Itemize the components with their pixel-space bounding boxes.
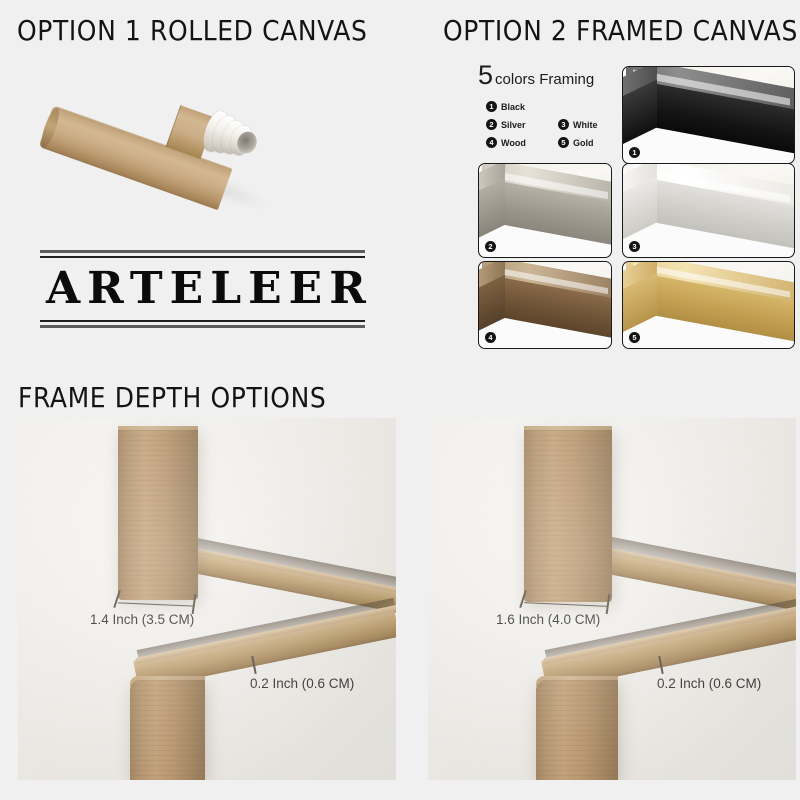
- frame-corner-white-image: [623, 164, 794, 257]
- brand-name: ARTELEER: [40, 258, 365, 320]
- frame-swatch-gold[interactable]: 5: [622, 261, 795, 349]
- frame-swatch-silver[interactable]: 2: [478, 163, 612, 258]
- legend-label-black: Black: [501, 102, 525, 112]
- legend-label-silver: Silver: [501, 120, 526, 130]
- legend-item-black: 1 Black: [486, 101, 540, 112]
- frame-depth-photo-1-6-inch: 1.6 Inch (4.0 CM) 0.2 Inch (0.6 CM): [428, 418, 796, 780]
- legend-row: 1 Black: [486, 101, 618, 112]
- legend-label-gold: Gold: [573, 138, 594, 148]
- frame-corner-wood-image: [479, 262, 611, 348]
- legend-badge-2: 2: [486, 119, 497, 130]
- frame-corner-silver-image: [479, 164, 611, 257]
- frame-swatch-black[interactable]: 1: [622, 66, 795, 164]
- legend-badge-1: 1: [486, 101, 497, 112]
- rolled-canvas-tube-image: [30, 58, 300, 208]
- swatch-number-4: 4: [485, 332, 496, 343]
- legend-item-silver: 2 Silver: [486, 119, 540, 130]
- option2-heading: OPTION 2 FRAMED CANVAS: [443, 14, 798, 46]
- frame-corner-gold-image: [623, 262, 794, 348]
- legend-badge-3: 3: [558, 119, 569, 130]
- legend-badge-5: 5: [558, 137, 569, 148]
- legend-label-wood: Wood: [501, 138, 526, 148]
- swatch-number-5: 5: [629, 332, 640, 343]
- depth-label-1-4-inch: 1.4 Inch (3.5 CM): [90, 612, 194, 627]
- logo-rule-bottom: [40, 320, 365, 328]
- brand-logo-block: ARTELEER: [40, 250, 365, 328]
- legend-rows: 1 Black 2 Silver 3 White 4 Wood: [478, 101, 618, 148]
- swatch-number-3: 3: [629, 241, 640, 252]
- frame-swatch-wood[interactable]: 4: [478, 261, 612, 349]
- legend-title-text: colors Framing: [495, 71, 594, 88]
- legend-row: 4 Wood 5 Gold: [486, 137, 618, 148]
- legend-badge-4: 4: [486, 137, 497, 148]
- legend-title: 5colors Framing: [478, 62, 618, 89]
- swatch-number-2: 2: [485, 241, 496, 252]
- frame-depth-heading: FRAME DEPTH OPTIONS: [18, 381, 326, 413]
- frame-corner-black-image: [623, 67, 794, 163]
- legend-label-white: White: [573, 120, 598, 130]
- option1-heading: OPTION 1 ROLLED CANVAS: [17, 14, 367, 46]
- thickness-label-right: 0.2 Inch (0.6 CM): [657, 676, 761, 691]
- legend-item-white: 3 White: [558, 119, 612, 130]
- depth-label-1-6-inch: 1.6 Inch (4.0 CM): [496, 612, 600, 627]
- swatch-number-1: 1: [629, 147, 640, 158]
- infographic-page: OPTION 1 ROLLED CANVAS ARTELEER OPTION 2…: [0, 0, 800, 800]
- legend-item-gold: 5 Gold: [558, 137, 612, 148]
- legend-count: 5: [478, 60, 493, 90]
- legend-row: 2 Silver 3 White: [486, 119, 618, 130]
- thickness-label-left: 0.2 Inch (0.6 CM): [250, 676, 354, 691]
- frame-depth-photo-1-4-inch: 1.4 Inch (3.5 CM) 0.2 Inch (0.6 CM): [18, 418, 396, 780]
- logo-rule-top: [40, 250, 365, 258]
- frame-swatch-white[interactable]: 3: [622, 163, 795, 258]
- framing-colors-legend: 5colors Framing 1 Black 2 Silver 3 White: [478, 62, 618, 148]
- legend-item-wood: 4 Wood: [486, 137, 540, 148]
